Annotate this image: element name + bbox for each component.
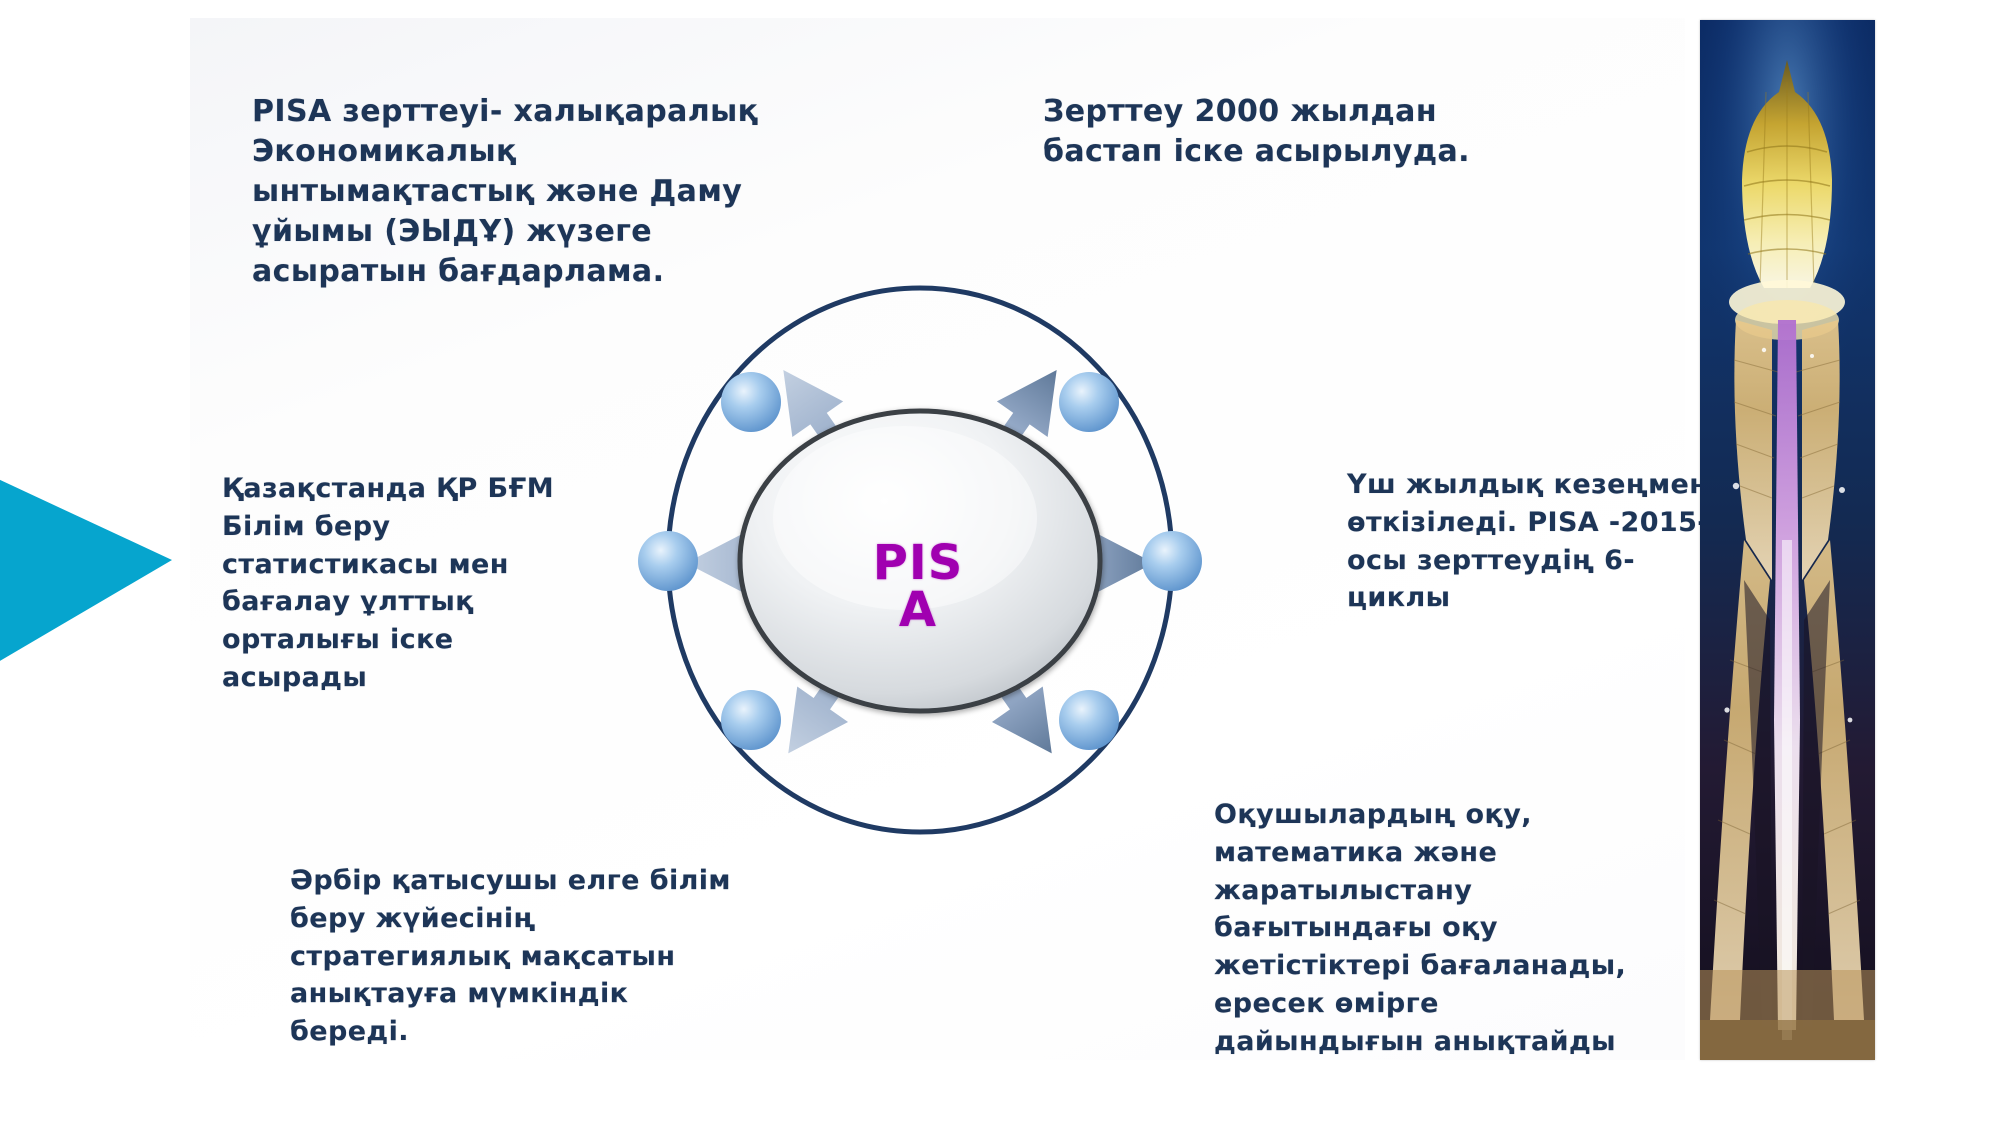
orbit-node-bottom-right [1059,690,1119,750]
center-sphere-highlight [773,426,1037,610]
baiterek-tower-illustration [1700,20,1875,1060]
slide-canvas: PISA зерттеуі- халықаралық Экономикалық … [0,0,2000,1125]
text-block-top-left: PISA зерттеуі- халықаралық Экономикалық … [252,92,772,291]
baiterek-tower-photo [1700,20,1875,1060]
cyan-pointer-arrow [0,424,172,696]
orbit-node-top-right [1059,372,1119,432]
text-block-left: Қазақстанда ҚР БҒМ Білім беру статистика… [222,470,602,697]
text-block-bottom-left: Әрбір қатысушы елге білім беру жүйесінің… [290,862,750,1051]
radial-diagram [560,280,1280,840]
orbit-node-bottom-left [721,690,781,750]
orbit-node-top-left [721,372,781,432]
orbit-node-right [1142,531,1202,591]
text-block-top-right: Зерттеу 2000 жылдан бастап іске асырылуд… [1043,92,1473,172]
text-block-right: Үш жылдық кезеңмен өткізіледі. PISA -201… [1347,466,1747,617]
orbit-node-left [638,531,698,591]
